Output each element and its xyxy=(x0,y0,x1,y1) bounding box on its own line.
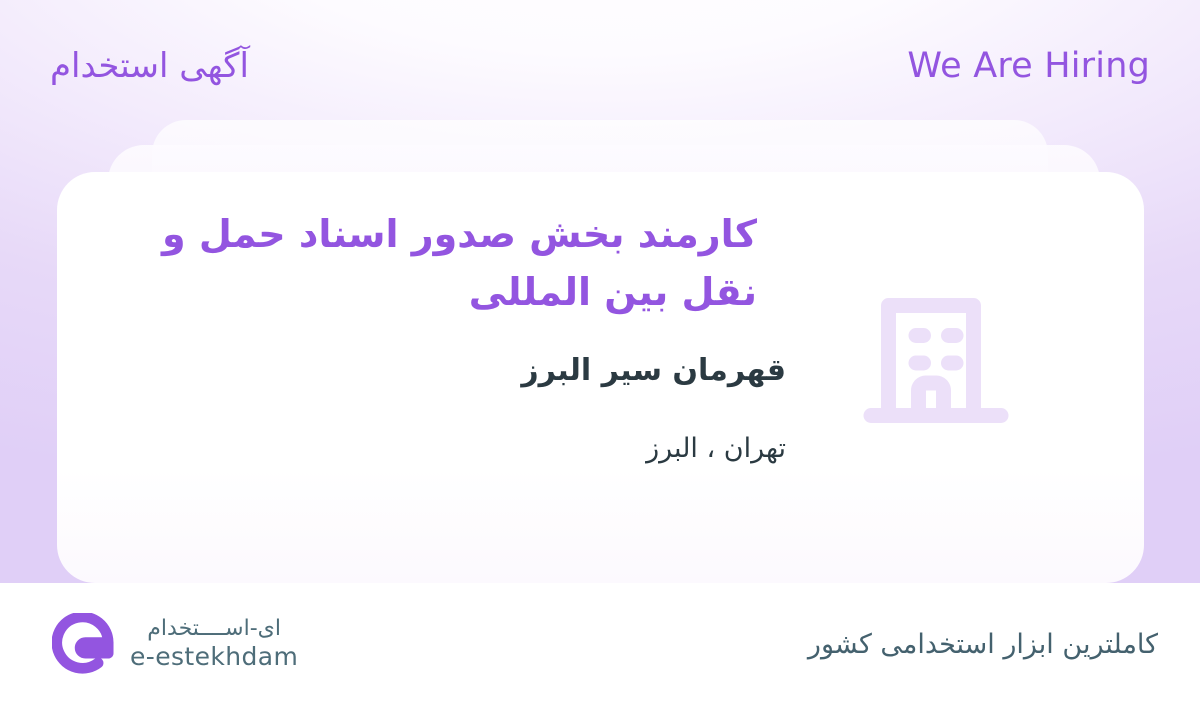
job-location: تهران ، البرز xyxy=(97,429,786,470)
poster-footer: کاملترین ابزار استخدامی کشور ای-اســــتخ… xyxy=(0,583,1200,705)
company-logo-area xyxy=(786,200,1086,438)
company-name: قهرمان سیر البرز xyxy=(97,348,786,393)
job-card-content: کارمند بخش صدور اسناد حمل و نقل بین المل… xyxy=(57,172,1144,583)
building-icon xyxy=(856,278,1016,438)
hiring-label-english: We Are Hiring xyxy=(907,46,1150,86)
footer-tagline: کاملترین ابزار استخدامی کشور xyxy=(808,629,1158,660)
e-logo-icon xyxy=(52,613,114,675)
job-ad-poster: We Are Hiring آگهی استخدام کارمند بخش صد… xyxy=(0,0,1200,705)
brand-name-english: e-estekhdam xyxy=(130,642,298,672)
job-title: کارمند بخش صدور اسناد حمل و نقل بین المل… xyxy=(97,206,757,322)
brand-lockup[interactable]: ای-اســــتخدام e-estekhdam xyxy=(52,613,298,675)
job-details: کارمند بخش صدور اسناد حمل و نقل بین المل… xyxy=(97,200,786,469)
hiring-label-persian: آگهی استخدام xyxy=(50,46,249,86)
poster-header: We Are Hiring آگهی استخدام xyxy=(0,0,1200,132)
brand-name-persian: ای-اســــتخدام xyxy=(147,616,281,642)
brand-wordmark: ای-اســــتخدام e-estekhdam xyxy=(130,616,298,671)
